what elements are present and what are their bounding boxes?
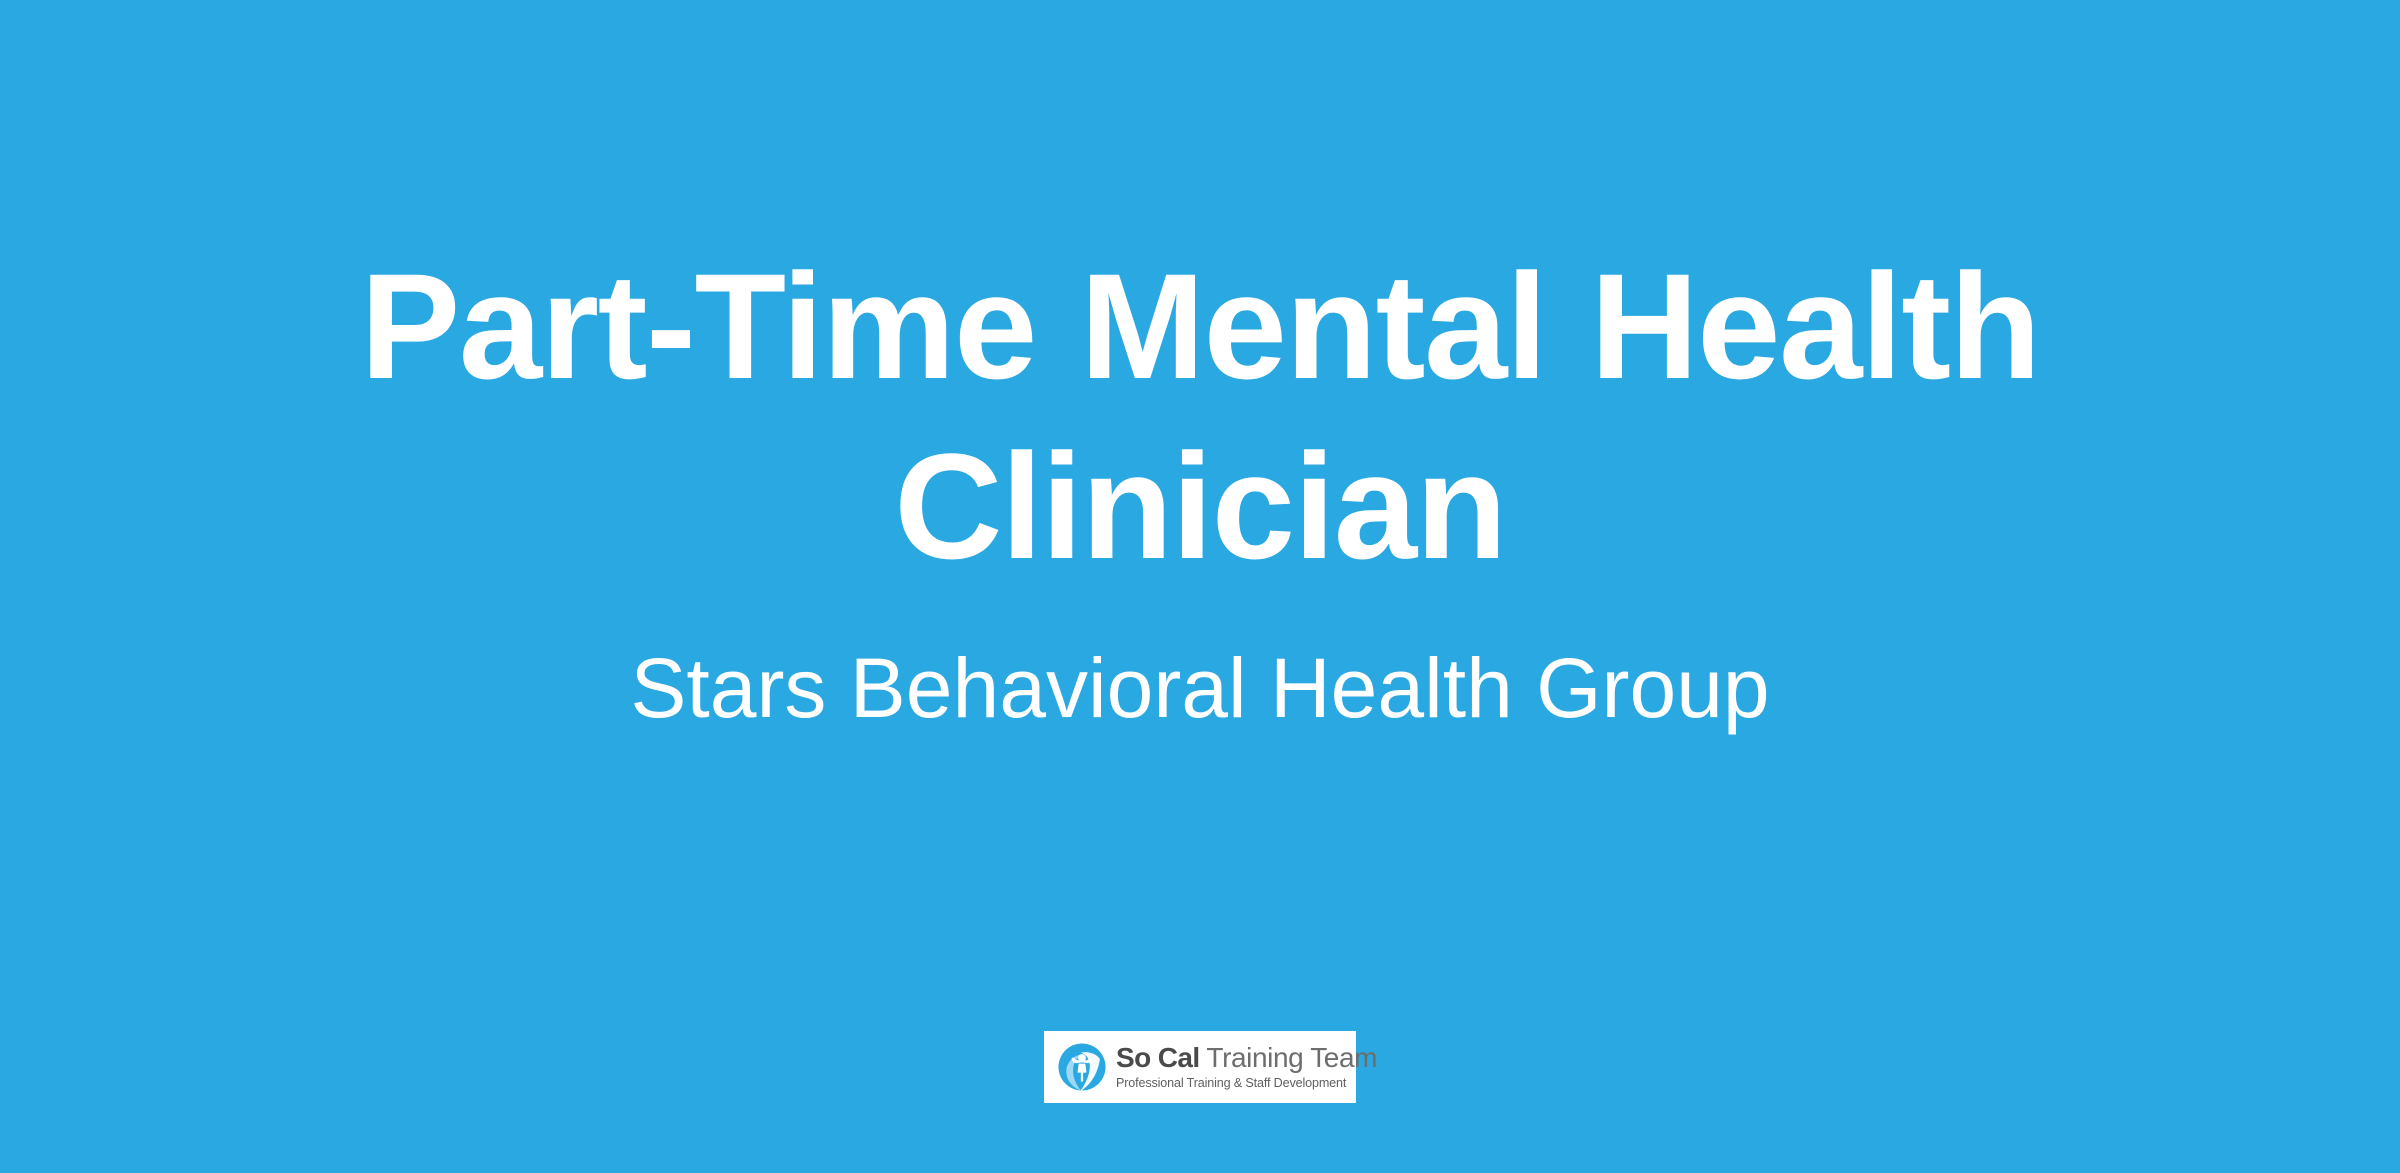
logo-card: So Cal Training Team Professional Traini… (1044, 1031, 1356, 1103)
logo-tagline: Professional Training & Staff Developmen… (1116, 1077, 1377, 1090)
page-title: Part-Time Mental Health Clinician (280, 236, 2120, 596)
so-cal-training-team-logo-icon (1054, 1039, 1110, 1095)
logo-wordmark: So Cal Training Team (1116, 1044, 1377, 1072)
organization-name: Stars Behavioral Health Group (250, 596, 2150, 738)
job-posting-slide: Part-Time Mental Health Clinician Stars … (0, 0, 2400, 1173)
logo-wordmark-light: Training Team (1200, 1042, 1378, 1073)
hero-section: Part-Time Mental Health Clinician Stars … (0, 0, 2400, 1010)
logo-text-block: So Cal Training Team Professional Traini… (1110, 1044, 1377, 1091)
logo-wordmark-bold: So Cal (1116, 1042, 1200, 1073)
